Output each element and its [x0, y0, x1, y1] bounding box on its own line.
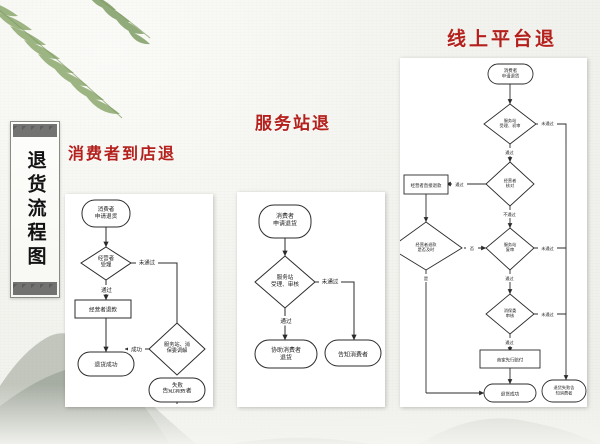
- svg-text:告知消费者: 告知消费者: [338, 351, 368, 359]
- edge-d1-fail-bend: [534, 124, 566, 146]
- svg-text:退货失败告知消费者: 退货失败告知消费者: [554, 384, 575, 396]
- svg-text:经营者退款: 经营者退款: [89, 306, 117, 314]
- flowchart-consumer-in-store: 消费者申请退货 经营者受理 经营者退款 服务站、消保委调解 退货成功: [65, 194, 213, 407]
- flowchart-service-station: 消费者申请退货 服务站受理、审核 协助消费者退货 告知消费者 未通过 通过: [237, 192, 385, 407]
- svg-text:经营者直接退款: 经营者直接退款: [411, 182, 442, 189]
- svg-text:通过: 通过: [455, 181, 464, 188]
- node-decision-station-second-review: 服务站复审: [486, 228, 534, 270]
- svg-text:退货成功: 退货成功: [501, 391, 520, 398]
- svg-text:消费者申请退货: 消费者申请退货: [95, 205, 118, 220]
- chart-caption-online-platform: 线上平台退: [447, 24, 557, 51]
- flowchart-panel-service-station: 消费者申请退货 服务站受理、审核 协助消费者退货 告知消费者 未通过 通过: [237, 192, 385, 407]
- svg-text:退货成功: 退货成功: [94, 361, 117, 369]
- node-start: 消费者申请退货: [259, 205, 311, 238]
- node-mediation: 服务站、消保委调解: [149, 323, 205, 375]
- svg-text:通过: 通过: [280, 317, 292, 325]
- svg-text:未通过: 未通过: [541, 120, 554, 127]
- edge-decision1-fail: [129, 263, 177, 323]
- svg-text:通过: 通过: [101, 286, 112, 294]
- flowchart-panel-consumer-in-store: 消费者申请退货 经营者受理 经营者退款 服务站、消保委调解 退货成功: [65, 194, 213, 407]
- node-merchant-refund: 经营者退款: [75, 300, 131, 318]
- node-assist-return: 协助消费者退货: [255, 340, 317, 368]
- node-decision-merchant-verify: 经营者核对: [486, 162, 534, 206]
- flowchart-online-platform: 消费者申请退货 服务站受理、初审 经营者核对 经营者直接退款 经营者退款是否及时: [400, 58, 587, 407]
- chart-caption-consumer-in-store: 消费者到店退: [68, 140, 176, 164]
- node-merchant-direct-refund: 经营者直接退款: [404, 175, 448, 194]
- willow-leaves-decoration: [0, 0, 152, 136]
- svg-text:服务站、消保委调解: 服务站、消保委调解: [164, 340, 190, 354]
- willow-leaves-icon: [0, 0, 152, 136]
- node-start: 消费者申请退货: [488, 64, 533, 84]
- node-decision-station-review: 服务站受理、审核: [255, 256, 315, 308]
- node-decision-station-first-review: 服务站受理、初审: [484, 104, 536, 144]
- node-return-success: 退货成功: [484, 384, 536, 402]
- svg-text:消费者申请退货: 消费者申请退货: [273, 212, 297, 228]
- svg-text:成功: 成功: [131, 345, 142, 353]
- poster-canvas: 退货流程图 消费者到店退 服务站退 线上平台退: [0, 0, 600, 444]
- node-start: 消费者申请退货: [82, 200, 130, 227]
- node-notify-consumer: 告知消费者: [325, 340, 381, 366]
- node-return-failed-notify: 退货失败告知消费者: [542, 380, 586, 402]
- svg-text:未通过: 未通过: [541, 245, 554, 252]
- svg-text:商家先行赔付: 商家先行赔付: [497, 357, 524, 364]
- flowchart-panel-online-platform: 消费者申请退货 服务站受理、初审 经营者核对 经营者直接退款 经营者退款是否及时: [400, 58, 587, 407]
- poster-vertical-title: 退货流程图: [10, 121, 60, 298]
- node-return-success: 退货成功: [78, 352, 134, 376]
- chart-caption-service-station: 服务站退: [255, 109, 331, 134]
- svg-text:未通过: 未通过: [541, 311, 554, 318]
- node-decision-consumer-council-review: 消保委审核: [486, 294, 534, 334]
- svg-text:未通过: 未通过: [322, 278, 339, 286]
- node-decision-merchant-accept: 经营者受理: [81, 247, 131, 280]
- svg-text:不通过: 不通过: [503, 211, 516, 218]
- node-decision-refund-timely: 经营者退款是否及时: [400, 222, 462, 270]
- svg-text:失败: 失败: [172, 381, 183, 389]
- svg-text:经营者退款是否及时: 经营者退款是否及时: [416, 241, 438, 253]
- svg-text:未通过: 未通过: [139, 258, 156, 266]
- svg-text:通过: 通过: [505, 275, 514, 282]
- svg-text:通过: 通过: [505, 149, 514, 156]
- node-advance-compensation: 商家先行赔付: [480, 350, 540, 368]
- svg-text:通过: 通过: [505, 339, 514, 346]
- poster-title-text: 退货流程图: [26, 150, 45, 270]
